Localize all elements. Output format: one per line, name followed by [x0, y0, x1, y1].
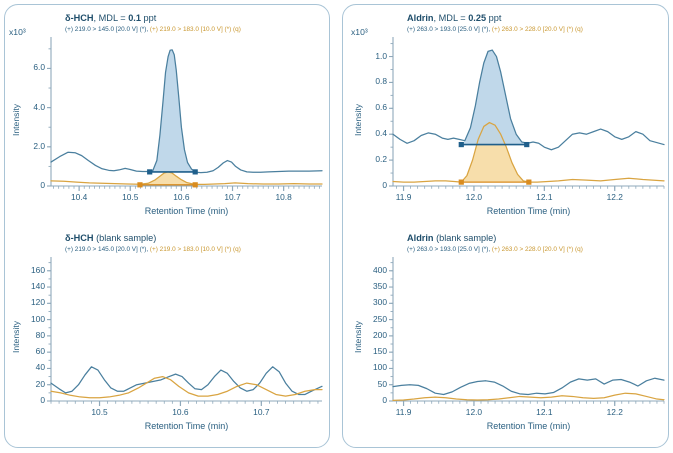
- x-axis-label-dhch-standard: Retention Time (min): [51, 206, 322, 216]
- y-tick-label: 0: [353, 395, 387, 405]
- x-tick-label: 10.8: [270, 192, 298, 202]
- analyte-name: δ-HCH: [65, 233, 94, 243]
- x-axis-label-aldrin-standard: Retention Time (min): [393, 206, 664, 216]
- y-tick-label: 0: [11, 180, 45, 190]
- integration-marker: [526, 180, 531, 185]
- title-rest: , MDL =: [434, 13, 469, 23]
- transition-legend-dhch-standard: (+) 219.0 > 145.0 [20.0 V] (*), (+) 219.…: [65, 26, 241, 33]
- x-tick-label: 10.5: [116, 192, 144, 202]
- mdl-unit: ppt: [141, 13, 156, 23]
- transition-qualifier: (+) 263.0 > 228.0 [20.0 V] (*) (q): [492, 246, 583, 253]
- x-tick-label: 11.9: [390, 192, 418, 202]
- y-tick-label: 120: [11, 297, 45, 307]
- trace-qualifier: [393, 123, 664, 183]
- y-tick-label: 0: [353, 180, 387, 190]
- x-tick-label: 12.2: [601, 407, 629, 417]
- y-tick-label: 0.4: [353, 128, 387, 138]
- y-tick-label: 140: [11, 281, 45, 291]
- plot-title-dhch-blank: δ-HCH (blank sample): [65, 233, 156, 243]
- transition-qualifier: (+) 219.0 > 183.0 [10.0 V] (*) (q): [150, 26, 241, 33]
- transition-quantifier: (+) 219.0 > 145.0 [20.0 V] (*),: [65, 246, 150, 253]
- y-tick-label: 50: [353, 379, 387, 389]
- y-tick-label: 250: [353, 314, 387, 324]
- x-tick-label: 12.1: [530, 407, 558, 417]
- transition-qualifier: (+) 263.0 > 228.0 [20.0 V] (*) (q): [492, 26, 583, 33]
- x-axis-label-aldrin-blank: Retention Time (min): [393, 421, 664, 431]
- y-tick-label: 40: [11, 362, 45, 372]
- figure-root: δ-HCH, MDL = 0.1 ppt(+) 219.0 > 145.0 [2…: [0, 0, 673, 453]
- y-tick-label: 300: [353, 297, 387, 307]
- y-tick-label: 100: [11, 314, 45, 324]
- integration-marker: [459, 142, 464, 147]
- x-tick-label: 10.6: [166, 407, 194, 417]
- plot-title-dhch-standard: δ-HCH, MDL = 0.1 ppt: [65, 13, 156, 23]
- x-tick-label: 10.6: [167, 192, 195, 202]
- y-tick-label: 200: [353, 330, 387, 340]
- x-tick-label: 11.9: [390, 407, 418, 417]
- y-tick-label: 6.0: [11, 62, 45, 72]
- trace-qualifier: [51, 172, 322, 185]
- y-tick-label: 0.8: [353, 76, 387, 86]
- transition-quantifier: (+) 219.0 > 145.0 [20.0 V] (*),: [65, 26, 150, 33]
- y-tick-label: 4.0: [11, 102, 45, 112]
- x-axis-label-dhch-blank: Retention Time (min): [51, 421, 322, 431]
- y-tick-label: 150: [353, 346, 387, 356]
- plot-dhch-blank: [47, 257, 322, 406]
- integration-marker: [193, 169, 198, 174]
- trace-quantifier: [51, 50, 322, 173]
- trace-quantifier: [393, 378, 664, 394]
- integration-marker: [147, 169, 152, 174]
- panel-dhch: δ-HCH, MDL = 0.1 ppt(+) 219.0 > 145.0 [2…: [4, 4, 330, 448]
- plot-title-aldrin-blank: Aldrin (blank sample): [407, 233, 496, 243]
- y-tick-label: 100: [353, 362, 387, 372]
- x-tick-label: 12.1: [530, 192, 558, 202]
- y-tick-label: 0.2: [353, 154, 387, 164]
- x-tick-label: 12.0: [460, 192, 488, 202]
- plot-dhch-standard: [47, 37, 322, 191]
- trace-quantifier: [393, 50, 664, 150]
- transition-legend-aldrin-standard: (+) 263.0 > 193.0 [25.0 V] (*), (+) 263.…: [407, 26, 583, 33]
- transition-qualifier: (+) 219.0 > 183.0 [10.0 V] (*) (q): [150, 246, 241, 253]
- transition-legend-dhch-blank: (+) 219.0 > 145.0 [20.0 V] (*), (+) 219.…: [65, 246, 241, 253]
- mdl-unit: ppt: [486, 13, 501, 23]
- plot-aldrin-blank: [389, 257, 664, 406]
- x-tick-label: 10.5: [86, 407, 114, 417]
- integration-marker: [137, 182, 142, 187]
- transition-quantifier: (+) 263.0 > 193.0 [25.0 V] (*),: [407, 26, 492, 33]
- y-tick-label: 0.6: [353, 102, 387, 112]
- plot-aldrin-standard: [389, 37, 664, 191]
- x-tick-label: 10.4: [65, 192, 93, 202]
- analyte-name: Aldrin: [407, 13, 434, 23]
- y-axis-multiplier-dhch-standard: x10³: [9, 27, 26, 37]
- chart-canvas-panel-right: [343, 5, 668, 447]
- y-tick-label: 350: [353, 281, 387, 291]
- x-tick-label: 10.7: [247, 407, 275, 417]
- mdl-value: 0.25: [468, 13, 486, 23]
- y-tick-label: 400: [353, 265, 387, 275]
- chart-canvas-panel-left: [5, 5, 329, 447]
- transition-legend-aldrin-blank: (+) 263.0 > 193.0 [25.0 V] (*), (+) 263.…: [407, 246, 583, 253]
- transition-quantifier: (+) 263.0 > 193.0 [25.0 V] (*),: [407, 246, 492, 253]
- panel-aldrin: Aldrin, MDL = 0.25 ppt(+) 263.0 > 193.0 …: [342, 4, 669, 448]
- y-tick-label: 60: [11, 346, 45, 356]
- title-rest: , MDL =: [94, 13, 129, 23]
- y-tick-label: 80: [11, 330, 45, 340]
- y-tick-label: 160: [11, 265, 45, 275]
- y-tick-label: 20: [11, 379, 45, 389]
- title-rest: (blank sample): [434, 233, 497, 243]
- trace-quantifier: [51, 367, 322, 395]
- mdl-value: 0.1: [128, 13, 141, 23]
- integration-marker: [459, 180, 464, 185]
- plot-title-aldrin-standard: Aldrin, MDL = 0.25 ppt: [407, 13, 501, 23]
- y-tick-label: 2.0: [11, 141, 45, 151]
- integration-marker: [193, 182, 198, 187]
- y-tick-label: 1.0: [353, 51, 387, 61]
- analyte-name: δ-HCH: [65, 13, 94, 23]
- y-tick-label: 0: [11, 395, 45, 405]
- integration-marker: [524, 142, 529, 147]
- title-rest: (blank sample): [94, 233, 157, 243]
- x-tick-label: 10.7: [219, 192, 247, 202]
- analyte-name: Aldrin: [407, 233, 434, 243]
- y-axis-multiplier-aldrin-standard: x10³: [351, 27, 368, 37]
- trace-qualifier: [51, 377, 322, 398]
- x-tick-label: 12.0: [460, 407, 488, 417]
- x-tick-label: 12.2: [601, 192, 629, 202]
